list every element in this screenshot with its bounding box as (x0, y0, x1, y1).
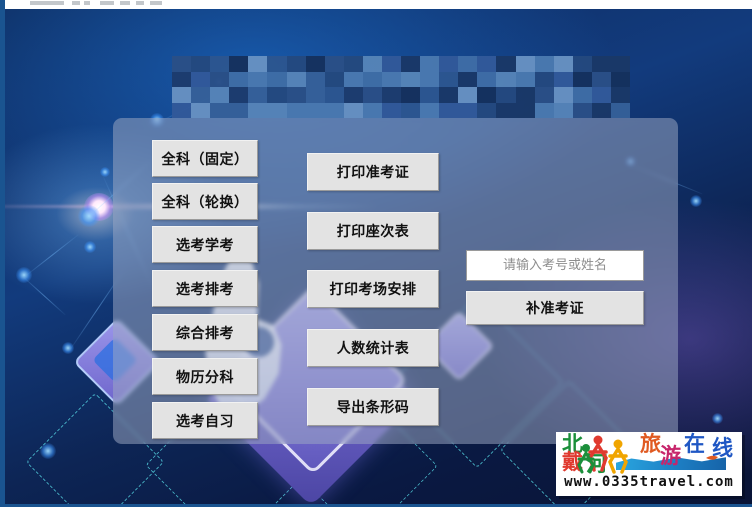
btn-physics-history-split[interactable]: 物历分科 (152, 358, 258, 395)
network-link (23, 277, 65, 315)
title-bar-blurred-text (100, 1, 114, 5)
button-label: 打印考场安排 (330, 279, 417, 299)
title-bar-blurred-text (120, 1, 130, 5)
button-label: 全科（固定） (162, 149, 249, 169)
btn-headcount-report[interactable]: 人数统计表 (307, 329, 439, 367)
btn-elective-arrange[interactable]: 选考排考 (152, 270, 258, 307)
btn-reissue-admission-ticket[interactable]: 补准考证 (466, 291, 644, 325)
watermark-logo: 北 戴 河 旅 游 在 线 www.0335travel.com (556, 432, 742, 496)
button-label: 全科（轮换） (162, 192, 249, 212)
network-link (26, 234, 79, 275)
network-node (84, 241, 96, 253)
search-input[interactable] (466, 250, 644, 281)
button-label: 物历分科 (176, 367, 234, 387)
title-bar-blurred-text (30, 1, 64, 5)
button-label: 选考学考 (176, 235, 234, 255)
title-bar-accent (0, 0, 5, 9)
window-title-bar[interactable] (0, 0, 752, 9)
watermark-graphic: 北 戴 河 旅 游 在 线 (556, 432, 742, 474)
window-left-border (0, 9, 5, 507)
title-bar-blurred-text (72, 1, 80, 5)
network-node (16, 267, 32, 283)
network-node (712, 413, 723, 424)
btn-print-exam-room-plan[interactable]: 打印考场安排 (307, 270, 439, 308)
button-label: 选考排考 (176, 279, 234, 299)
people-icon (556, 432, 742, 474)
watermark-url: www.0335travel.com (556, 474, 742, 490)
button-label: 综合排考 (176, 323, 234, 343)
network-node (690, 195, 702, 207)
btn-print-admission-ticket[interactable]: 打印准考证 (307, 153, 439, 191)
btn-print-seating-chart[interactable]: 打印座次表 (307, 212, 439, 250)
btn-all-subjects-fixed[interactable]: 全科（固定） (152, 140, 258, 177)
button-label: 打印准考证 (337, 162, 410, 182)
button-label: 导出条形码 (337, 397, 410, 417)
button-label: 打印座次表 (337, 221, 410, 241)
btn-elective-selfstudy[interactable]: 选考自习 (152, 402, 258, 439)
censored-header-banner (172, 56, 630, 118)
btn-all-subjects-rotate[interactable]: 全科（轮换） (152, 183, 258, 220)
title-bar-blurred-text (84, 1, 90, 5)
network-node (100, 167, 110, 177)
button-label: 选考自习 (176, 411, 234, 431)
btn-comprehensive-arrange[interactable]: 综合排考 (152, 314, 258, 351)
title-bar-blurred-text (150, 1, 162, 5)
button-label: 补准考证 (526, 298, 584, 318)
title-bar-blurred-text (136, 1, 144, 5)
application-window: 全科（固定） 全科（轮换） 选考学考 选考排考 综合排考 物历分科 选考自习 打… (0, 0, 752, 507)
btn-elective-academic[interactable]: 选考学考 (152, 226, 258, 263)
button-label: 人数统计表 (337, 338, 410, 358)
btn-export-barcode[interactable]: 导出条形码 (307, 388, 439, 426)
